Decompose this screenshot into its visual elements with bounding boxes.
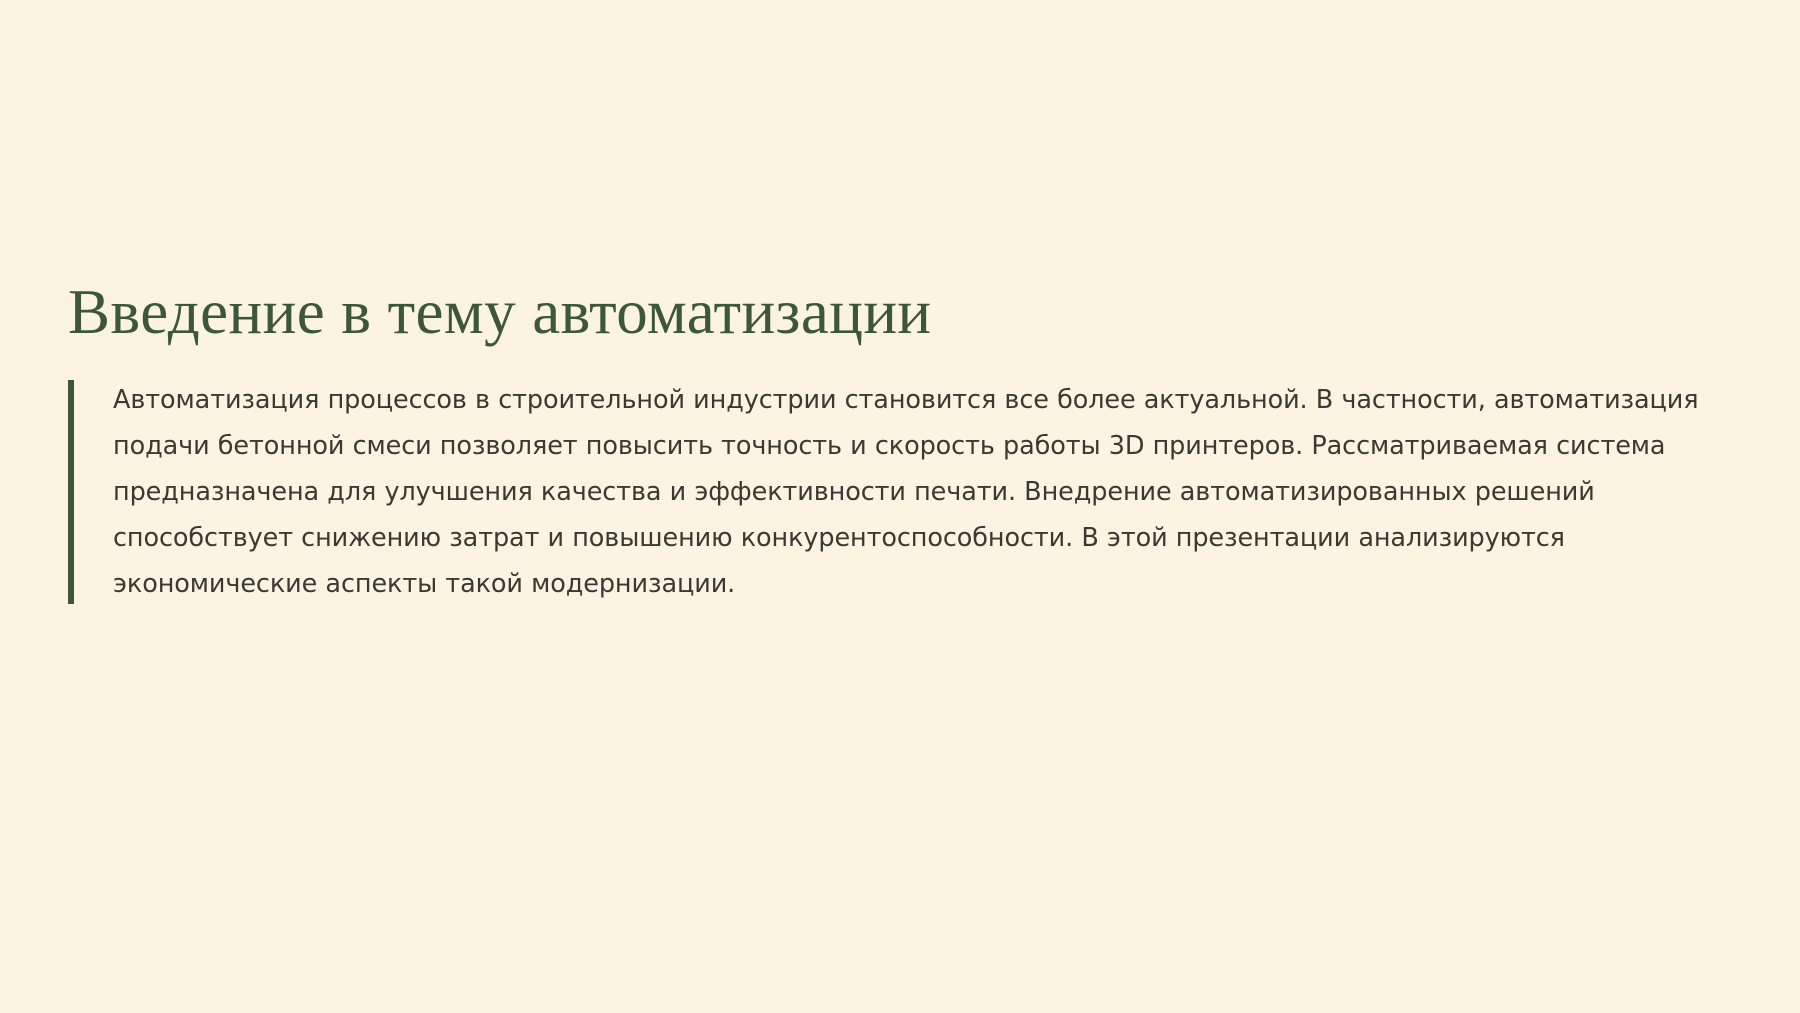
presentation-slide: Введение в тему автоматизации Автоматиза… <box>0 0 1800 1013</box>
page-title: Введение в тему автоматизации <box>68 275 1708 349</box>
quote-block: Автоматизация процессов в строительной и… <box>68 377 1703 607</box>
accent-bar <box>68 380 74 604</box>
slide-body-text: Автоматизация процессов в строительной и… <box>113 377 1703 607</box>
slide-content: Введение в тему автоматизации Автоматиза… <box>68 275 1708 607</box>
